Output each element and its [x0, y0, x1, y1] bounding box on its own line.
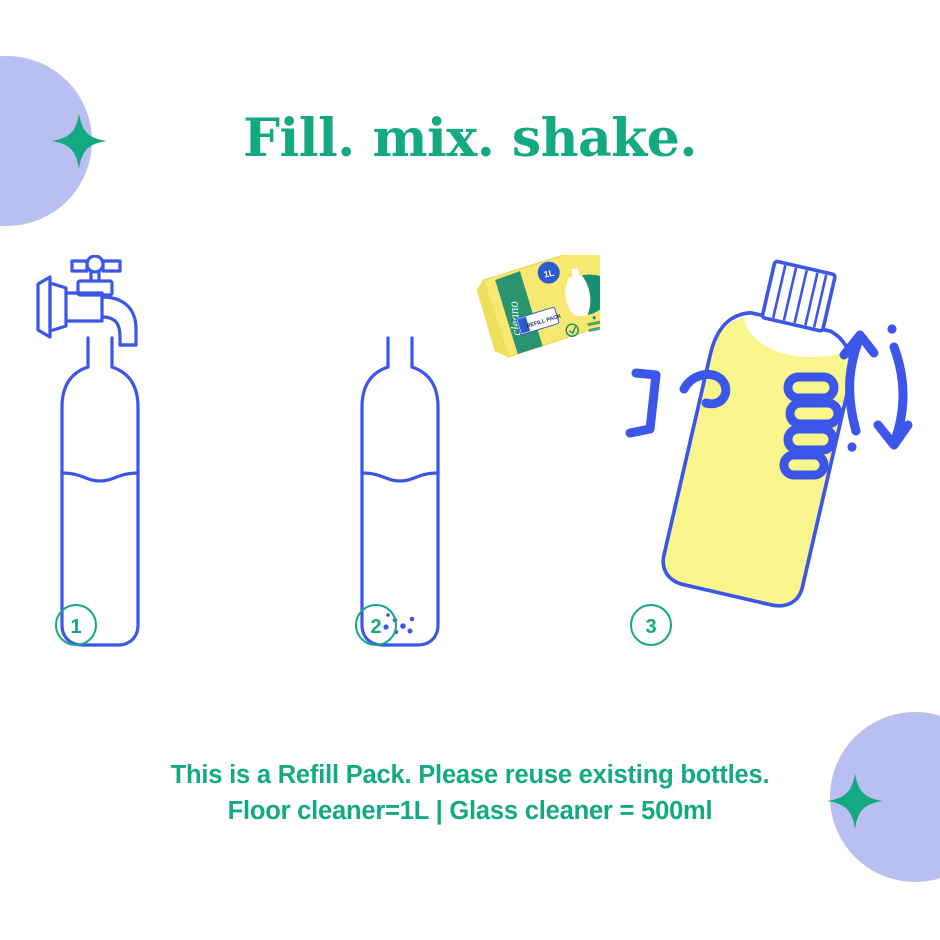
footer-line-1: This is a Refill Pack. Please reuse exis…	[0, 757, 940, 793]
bottle-liquid	[659, 312, 859, 611]
tap-spout-icon	[66, 293, 136, 345]
refill-pack-pouring-into-bottle-illustration: cleano 1L	[300, 255, 600, 675]
step-badge-2: 2	[355, 604, 397, 646]
tap-filling-bottle-illustration	[0, 255, 300, 675]
bottle-outline-2	[362, 338, 438, 645]
water-level-line-1	[62, 473, 138, 481]
shake-arrow-up-icon	[844, 335, 874, 452]
poster-canvas: Fill. mix. shake.	[0, 0, 940, 940]
tap-wall-flange-icon	[38, 277, 66, 337]
step-1-illustration	[0, 255, 300, 675]
page-title: Fill. mix. shake.	[0, 108, 940, 169]
step-badge-3: 3	[630, 604, 672, 646]
step-2-illustration: cleano 1L	[300, 255, 600, 675]
shake-arrow-down-icon	[878, 324, 908, 445]
filled-yellow-bottle	[659, 306, 860, 611]
bottle-outline-1	[62, 338, 138, 645]
refill-pack-sachet: cleano 1L	[472, 255, 600, 360]
tap-valve-icon	[72, 256, 120, 295]
ribbed-cap-icon	[762, 261, 835, 331]
water-level-line-2	[362, 473, 438, 481]
footer-note: This is a Refill Pack. Please reuse exis…	[0, 757, 940, 829]
footer-line-2: Floor cleaner=1L | Glass cleaner = 500ml	[0, 793, 940, 829]
step-badge-1: 1	[55, 604, 97, 646]
